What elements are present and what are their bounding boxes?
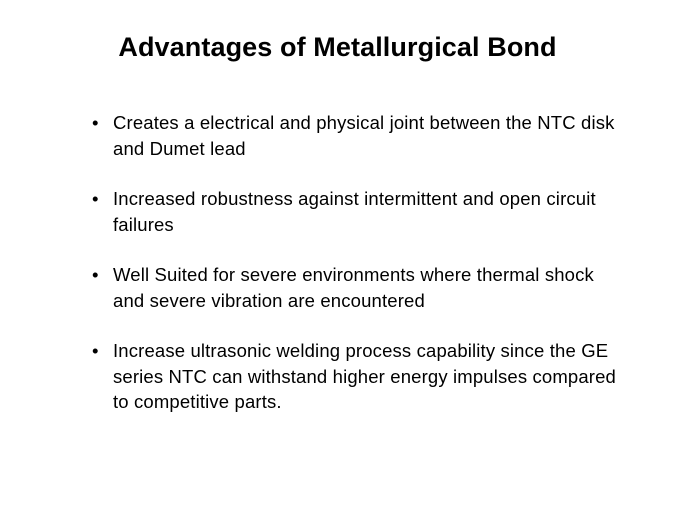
bullet-item-2-text: Increased robustness against intermitten… <box>113 186 616 237</box>
bullet-dot-icon: • <box>92 338 106 364</box>
bullet-item-4-text: Increase ultrasonic welding process capa… <box>113 338 616 415</box>
slide-body: • Creates a electrical and physical join… <box>88 110 616 415</box>
bullet-item-4: • Increase ultrasonic welding process ca… <box>88 338 616 415</box>
bullet-item-3: • Well Suited for severe environments wh… <box>88 262 616 313</box>
bullet-dot-icon: • <box>92 110 106 136</box>
bullet-list: • Creates a electrical and physical join… <box>88 110 616 415</box>
presentation-slide: Advantages of Metallurgical Bond • Creat… <box>0 0 675 506</box>
bullet-item-1: • Creates a electrical and physical join… <box>88 110 616 161</box>
bullet-dot-icon: • <box>92 186 106 212</box>
bullet-dot-icon: • <box>92 262 106 288</box>
bullet-item-1-text: Creates a electrical and physical joint … <box>113 110 616 161</box>
bullet-item-2: • Increased robustness against intermitt… <box>88 186 616 237</box>
slide-title: Advantages of Metallurgical Bond <box>0 31 675 63</box>
bullet-item-3-text: Well Suited for severe environments wher… <box>113 262 616 313</box>
